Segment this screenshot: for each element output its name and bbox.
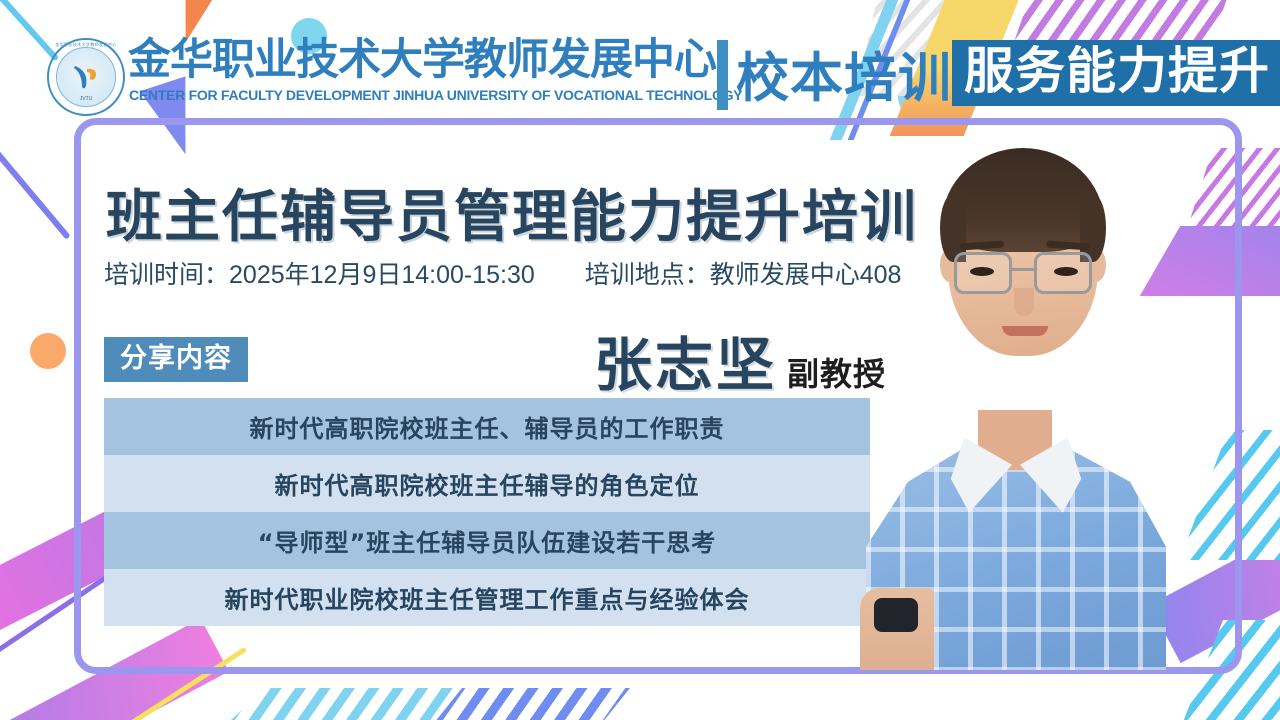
speaker-block: 张志坚副教授 bbox=[594, 318, 886, 402]
topic-list: 新时代高职院校班主任、辅导员的工作职责 新时代高职院校班主任辅导的角色定位 “导… bbox=[104, 398, 870, 626]
list-item: 新时代高职院校班主任、辅导员的工作职责 bbox=[104, 398, 870, 455]
share-content-badge: 分享内容 bbox=[104, 337, 248, 382]
decor-cyan-stripes-bottom bbox=[222, 688, 502, 720]
list-item: 新时代职业院校班主任管理工作重点与经验体会 bbox=[104, 569, 870, 626]
university-seal-icon: 金华职业技术大学教师发展中心 JVTU bbox=[47, 38, 125, 116]
poster-header: 金华职业技术大学教师发展中心 JVTU 金华职业技术大学教师发展中心 CENTE… bbox=[0, 14, 1280, 100]
poster-title: 班主任辅导员管理能力提升培训 bbox=[106, 172, 918, 253]
speaker-name: 张志坚 bbox=[594, 331, 777, 399]
header-tag-plain: 校本培训 bbox=[736, 36, 952, 112]
brand-title-en: CENTER FOR FACULTY DEVELOPMENT JINHUA UN… bbox=[129, 88, 742, 104]
list-item: “导师型”班主任辅导员队伍建设若干思考 bbox=[104, 512, 870, 569]
decor-orange-dot bbox=[30, 333, 66, 369]
time-value: 2025年12月9日14:00-15:30 bbox=[229, 261, 535, 289]
speaker-portrait-photo bbox=[856, 122, 1176, 670]
header-divider-bar bbox=[717, 40, 728, 110]
poster-canvas: 金华职业技术大学教师发展中心 JVTU 金华职业技术大学教师发展中心 CENTE… bbox=[0, 0, 1280, 720]
place-label: 培训地点： bbox=[585, 261, 710, 289]
poster-meta: 培训时间：2025年12月9日14:00-15:30 培训地点：教师发展中心40… bbox=[104, 255, 901, 291]
brand-title-cn: 金华职业技术大学教师发展中心 bbox=[128, 38, 716, 83]
decor-purple-line-topleft bbox=[0, 121, 71, 240]
decor-indigo-stripes-bottom bbox=[430, 688, 630, 720]
list-item: 新时代高职院校班主任辅导的角色定位 bbox=[104, 455, 870, 512]
time-label: 培训时间： bbox=[104, 261, 229, 289]
bird-glyph-icon bbox=[69, 60, 103, 94]
header-tag-box: 服务能力提升 bbox=[952, 40, 1280, 106]
